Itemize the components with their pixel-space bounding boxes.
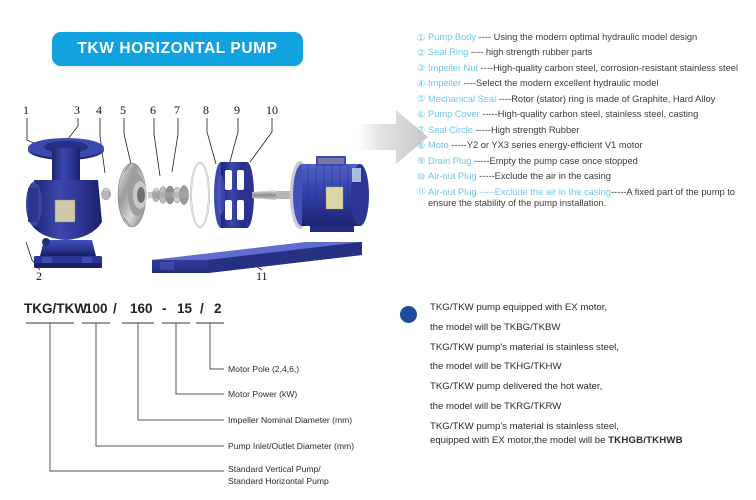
parts-description-list: ① Pump Body ---- Using the modern optima… [414, 32, 756, 213]
variant-line-text: equipped with EX motor,the model will be [430, 435, 608, 446]
svg-text:6: 6 [150, 103, 156, 117]
part-number: ② [414, 47, 428, 59]
variant-line: TKG/TKW pump's material is stainless ste… [430, 421, 756, 433]
part-description: Using the modern optimal hydraulic model… [494, 32, 698, 42]
part-item: ⑦ Seal Circle -----High strength Rubber [414, 125, 756, 137]
page-title-banner: TKW HORIZONTAL PUMP [52, 32, 303, 66]
part-description: Exclude the air in the casing [495, 171, 611, 181]
part-number: ① [414, 32, 428, 44]
variant-line: TKG/TKW pump equipped with EX motor, [430, 302, 756, 314]
part-item: ⑥ Pump Cover -----High-quality carbon st… [414, 109, 756, 121]
svg-text:10: 10 [266, 103, 278, 117]
page-title: TKW HORIZONTAL PUMP [77, 40, 277, 58]
part-description-blue: Exclude the air in the casing [495, 187, 611, 197]
part-separator: ----- [477, 171, 495, 181]
part-item: ⑩ Air-out Plug -----Exclude the air in t… [414, 171, 756, 183]
part-name: Air-out Plug [428, 187, 477, 197]
variant-line: the model will be TKHG/TKHW [430, 361, 756, 373]
code-token-pole: 2 [214, 301, 222, 316]
part-name: Drain Plug [428, 156, 471, 166]
variant-line: TKG/TKW pump delivered the hot water, [430, 381, 756, 393]
model-code-breakdown: TKG/TKW 100 / 160 - 15 / 2 [0, 296, 400, 496]
leader-label-standard-horiz: Standard Horizontal Pump [228, 476, 329, 486]
code-token-power: 15 [177, 301, 193, 316]
part-item: ⑤ Mechanical Seal ----Rotor (stator) rin… [414, 94, 756, 106]
part-item: ④ Impeller ----Select the modern excelle… [414, 78, 756, 90]
part-separator: ---- [478, 63, 493, 73]
variant-line-final: equipped with EX motor,the model will be… [430, 435, 756, 447]
part-name: Pump Cover [428, 109, 480, 119]
part-item: ③ Impeller Nut ----High-quality carbon s… [414, 63, 756, 75]
part-name: Pump Body [428, 32, 476, 42]
code-token-series: TKG/TKW [24, 301, 87, 316]
exploded-pump-diagram: 1 2 3 4 5 6 7 8 9 10 11 [0, 92, 376, 292]
part-description: Rotor (stator) ring is made of Graphite,… [511, 94, 715, 104]
part-separator: ---- [468, 47, 486, 57]
svg-text:9: 9 [234, 103, 240, 117]
part-name: Seal Circle [428, 125, 473, 135]
svg-text:2: 2 [36, 269, 42, 283]
part-number: ⑦ [414, 125, 428, 137]
part-number: ⑪ [414, 187, 428, 199]
part-description: Empty the pump case once stopped [490, 156, 638, 166]
part-separator: ----- [449, 140, 467, 150]
part-description: Y2 or YX3 series energy-efficient V1 mot… [467, 140, 643, 150]
code-token-impeller: 160 [130, 301, 153, 316]
variant-line: TKG/TKW pump's material is stainless ste… [430, 342, 756, 354]
svg-text:7: 7 [174, 103, 180, 117]
part-number: ⑤ [414, 94, 428, 106]
svg-text:4: 4 [96, 103, 102, 117]
part-description: High-quality carbon steel, corrosion-res… [493, 63, 738, 73]
part-item: ⑨ Drain Plug -----Empty the pump case on… [414, 156, 756, 168]
part-number: ⑧ [414, 140, 428, 152]
variant-line: the model will be TKBG/TKBW [430, 322, 756, 334]
leader-label-motor-pole: Motor Pole (2,4,6,) [228, 364, 299, 374]
part-description: High strength Rubber [491, 125, 579, 135]
part-separator: ----- [473, 125, 491, 135]
part-item: ① Pump Body ---- Using the modern optima… [414, 32, 756, 44]
leader-label-standard-vert: Standard Vertical Pump/ [228, 464, 321, 474]
part-separator: ----- [480, 109, 498, 119]
svg-text:8: 8 [203, 103, 209, 117]
part-name: Air-out Plug [428, 171, 477, 181]
svg-text:1: 1 [23, 103, 29, 117]
part-name: Impeller [428, 78, 461, 88]
page-root: TKW HORIZONTAL PUMP [0, 0, 756, 500]
code-token-slash-2: / [200, 301, 204, 316]
part-item: ⑧ Moto -----Y2 or YX3 series energy-effi… [414, 140, 756, 152]
part-number: ④ [414, 78, 428, 90]
part-number: ⑨ [414, 156, 428, 168]
part-separator: ---- [461, 78, 476, 88]
part-name: Mechanical Seal [428, 94, 496, 104]
part-name: Impeller Nut [428, 63, 478, 73]
part-separator: ----- [477, 187, 495, 197]
part-separator: ----- [471, 156, 489, 166]
code-token-slash-1: / [113, 301, 117, 316]
svg-text:11: 11 [256, 269, 268, 283]
leader-label-impeller-dia: Impeller Nominal Diameter (mm) [228, 415, 352, 425]
bullet-dot-icon [400, 306, 417, 323]
leader-label-motor-power: Motor Power (kW) [228, 389, 297, 399]
part-separator: ---- [476, 32, 494, 42]
code-token-inlet: 100 [85, 301, 108, 316]
variant-notes-block: TKG/TKW pump equipped with EX motor, the… [400, 302, 756, 455]
svg-text:5: 5 [120, 103, 126, 117]
part-description: High-quality carbon steel, stainless ste… [498, 109, 699, 119]
part-name: Seal Ring [428, 47, 468, 57]
svg-text:3: 3 [74, 103, 80, 117]
part-description: high strength rubber parts [486, 47, 592, 57]
part-number: ③ [414, 63, 428, 75]
part-separator: ---- [496, 94, 511, 104]
part-item: ⑪ Air-out Plug -----Exclude the air in t… [414, 187, 756, 210]
part-name: Moto [428, 140, 449, 150]
part-description: Select the modern excellent hydraulic mo… [476, 78, 658, 88]
variant-model-code: TKHGB/TKHWB [608, 435, 683, 446]
part-number: ⑥ [414, 109, 428, 121]
part-item: ② Seal Ring ---- high strength rubber pa… [414, 47, 756, 59]
leader-label-inlet-dia: Pump Inlet/Outlet Diameter (mm) [228, 441, 354, 451]
code-token-dash: - [162, 301, 167, 316]
variant-line: the model will be TKRG/TKRW [430, 401, 756, 413]
part-number: ⑩ [414, 171, 428, 183]
